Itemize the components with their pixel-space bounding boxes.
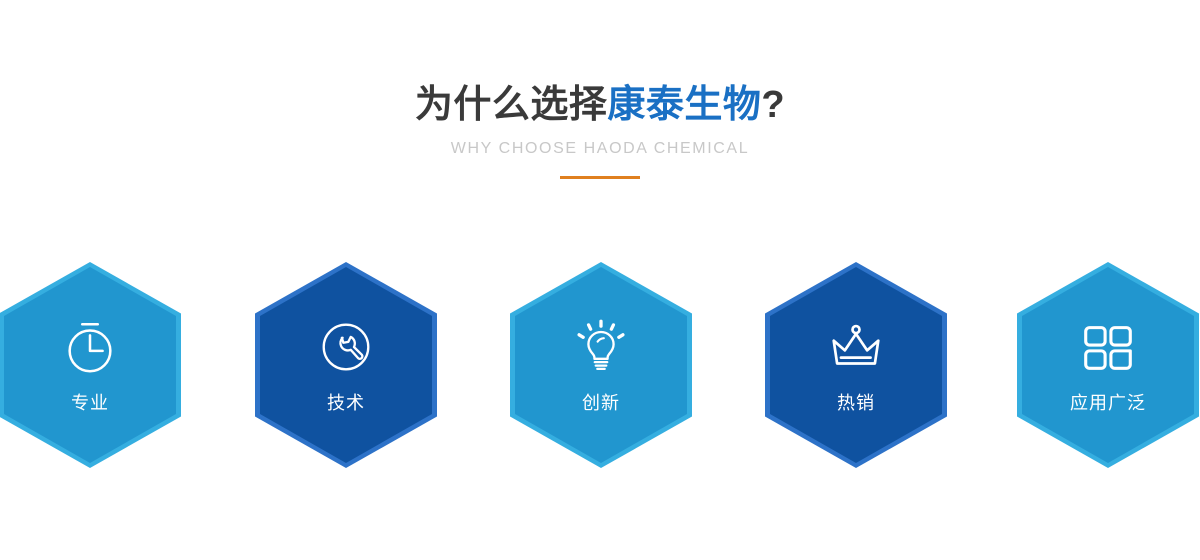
feature-hexagon-wide-application[interactable]: 应用广泛 — [1017, 262, 1199, 468]
feature-hexagon-row: 专业 技术 — [0, 262, 1200, 472]
feature-hexagon-innovation[interactable]: 创新 — [510, 262, 692, 468]
section-header: 为什么选择康泰生物? WHY CHOOSE HAODA CHEMICAL — [0, 78, 1200, 180]
feature-label: 专业 — [71, 392, 109, 414]
hexagon-content: 技术 — [255, 262, 437, 468]
page-title: 为什么选择康泰生物? — [0, 78, 1200, 132]
page-title-prefix: 为什么选择 — [415, 84, 608, 126]
feature-hexagon-professional[interactable]: 专业 — [0, 262, 181, 468]
hexagon-content: 应用广泛 — [1017, 262, 1199, 468]
orange-divider — [560, 176, 640, 179]
feature-label: 热销 — [837, 392, 875, 414]
feature-label: 技术 — [327, 392, 365, 414]
hexagon-content: 创新 — [510, 262, 692, 468]
grid-squares-icon — [1077, 316, 1139, 378]
feature-label: 应用广泛 — [1070, 392, 1146, 414]
feature-hexagon-technology[interactable]: 技术 — [255, 262, 437, 468]
divider-wrapper — [0, 176, 1200, 180]
feature-hexagon-bestseller[interactable]: 热销 — [765, 262, 947, 468]
lightbulb-icon — [570, 316, 632, 378]
hexagon-content: 热销 — [765, 262, 947, 468]
why-choose-us-section: 为什么选择康泰生物? WHY CHOOSE HAODA CHEMICAL 专业 — [0, 0, 1200, 560]
page-title-highlight: 康泰生物 — [607, 84, 761, 126]
crown-icon — [825, 316, 887, 378]
wrench-circle-icon — [315, 316, 377, 378]
stopwatch-icon — [59, 316, 121, 378]
hexagon-content: 专业 — [0, 262, 181, 468]
feature-label: 创新 — [582, 392, 620, 414]
page-title-suffix: ? — [761, 84, 785, 126]
page-subtitle: WHY CHOOSE HAODA CHEMICAL — [0, 138, 1200, 160]
